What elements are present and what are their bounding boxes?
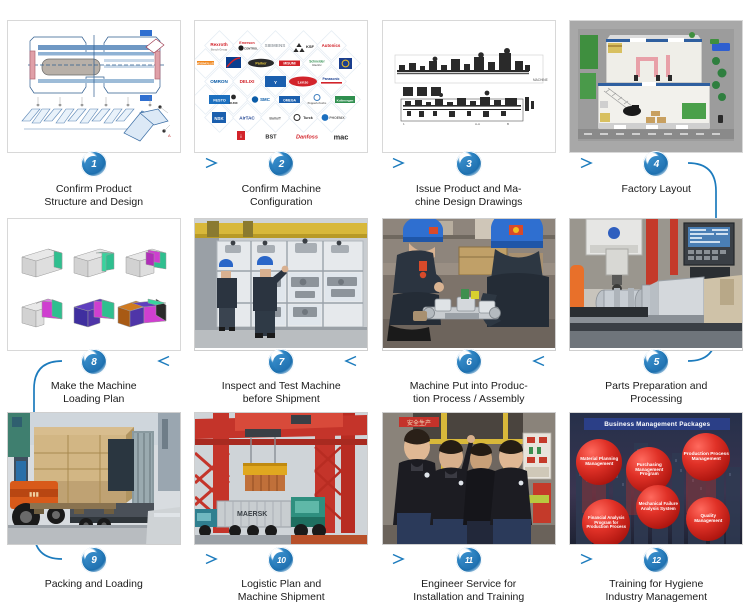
step-4-label-cell: Factory Layout [563, 183, 750, 219]
step-badge-6[interactable]: 6 [456, 349, 482, 375]
bmp-sphere-production-process[interactable]: Production Process Management [682, 433, 730, 481]
step-2-image-cell: Rexroth Bosch Group Emerson CONTROL SIEM… [188, 20, 376, 155]
machine-inspection-photo[interactable] [194, 218, 368, 351]
svg-text:A: A [168, 133, 171, 138]
bmp-title: Business Management Packages [584, 418, 730, 430]
step-9-badge-cell: 9 [0, 545, 188, 575]
step-9-label-cell: Packing and Loading [0, 578, 188, 614]
svg-text:Emerson: Emerson [240, 41, 255, 45]
step-1-image-cell: A [0, 20, 188, 155]
row-1-images: A [0, 20, 750, 155]
step-badge-8[interactable]: 8 [81, 349, 107, 375]
business-management-packages-graphic[interactable]: Business Management Packages Material Pl… [569, 412, 743, 545]
step-10-label-cell: Logistic Plan and Machine Shipment [188, 578, 376, 614]
svg-text:AirTAC: AirTAC [240, 116, 256, 121]
svg-text:PHOENIX: PHOENIX [330, 116, 346, 120]
step-label-12: Training for Hygiene Industry Management [576, 578, 736, 603]
svg-text:FESTO: FESTO [213, 99, 226, 103]
svg-text:Rexroth: Rexroth [211, 42, 229, 47]
cnc-machining-photo[interactable] [569, 218, 743, 351]
svg-text:B: B [507, 122, 509, 126]
step-8-badge-cell: 8 [0, 347, 188, 377]
step-number-11: 11 [460, 552, 477, 569]
step-label-6: Machine Put into Produc- tion Process / … [389, 380, 549, 405]
row-2-labels: Make the Machine Loading Plan Inspect an… [0, 380, 750, 416]
step-label-1: Confirm Product Structure and Design [14, 183, 174, 208]
forklift-container-loading-photo[interactable]: ▮▮▮ [7, 412, 181, 545]
step-3-badge-cell: 3 [375, 149, 563, 179]
svg-text:Kollmorgen: Kollmorgen [337, 98, 354, 102]
step-label-10: Logistic Plan and Machine Shipment [201, 578, 361, 603]
svg-text:mac: mac [334, 133, 349, 142]
step-badge-12[interactable]: 12 [643, 547, 669, 573]
svg-text:Panasonic: Panasonic [323, 77, 340, 81]
step-label-12-line2: Industry Management [576, 591, 736, 604]
svg-text:WEIDMÜLLER: WEIDMÜLLER [196, 60, 217, 65]
svg-text:DELIXI: DELIXI [240, 79, 255, 84]
svg-text:Parker: Parker [256, 62, 268, 66]
step-badge-7[interactable]: 7 [268, 349, 294, 375]
step-label-5-line2: Processing [576, 393, 736, 406]
bmp-sphere-label: Quality Management [686, 514, 730, 524]
step-12-image-cell: Business Management Packages Material Pl… [563, 412, 750, 547]
step-10-image-cell: MAERSK [188, 412, 376, 547]
step-11-badge-cell: 11 [375, 545, 563, 575]
bmp-sphere-label: Financial Analysis Program for Productio… [582, 516, 630, 529]
step-label-11: Engineer Service for Installation and Tr… [389, 578, 549, 603]
row-2-images [0, 218, 750, 353]
step-12-badge-cell: 12 [563, 545, 750, 575]
svg-text:安全生产: 安全生产 [407, 419, 431, 427]
cad-product-structure-drawing[interactable]: A [7, 20, 181, 153]
step-badge-5[interactable]: 5 [643, 349, 669, 375]
step-6-image-cell [375, 218, 563, 353]
step-label-2-line1: Confirm Machine [201, 183, 361, 196]
step-6-badge-cell: 6 [375, 347, 563, 377]
step-label-3-line2: chine Design Drawings [389, 196, 549, 209]
step-label-10-line2: Machine Shipment [201, 591, 361, 604]
svg-text:OMRON: OMRON [210, 79, 228, 84]
step-11-label-cell: Engineer Service for Installation and Tr… [375, 578, 563, 614]
step-8-label-cell: Make the Machine Loading Plan [0, 380, 188, 416]
bmp-sphere-label: Mechanical Failure Analysis System [636, 502, 680, 511]
step-12-label-cell: Training for Hygiene Industry Management [563, 578, 750, 614]
svg-text:Bosch Group: Bosch Group [211, 48, 228, 52]
step-number-9: 9 [85, 552, 102, 569]
svg-text:▮▮▮: ▮▮▮ [29, 492, 39, 498]
bmp-sphere-label: Production Process Management [682, 452, 730, 462]
svg-text:NSK: NSK [215, 116, 225, 121]
step-label-4: Factory Layout [576, 183, 736, 196]
svg-text:i: i [241, 134, 242, 139]
svg-text:MISUMI: MISUMI [284, 62, 296, 66]
svg-text:SUNX: SUNX [230, 101, 238, 105]
step-label-2: Confirm Machine Configuration [201, 183, 361, 208]
port-crane-container-photo[interactable]: MAERSK [194, 412, 368, 545]
step-9-image-cell: ▮▮▮ [0, 412, 188, 547]
svg-text:Turck: Turck [303, 116, 313, 120]
step-label-11-line2: Installation and Training [389, 591, 549, 604]
bmp-sphere-financial-analysis[interactable]: Financial Analysis Program for Productio… [582, 499, 630, 544]
step-label-9-line1: Packing and Loading [14, 578, 174, 591]
step-badge-10[interactable]: 10 [268, 547, 294, 573]
step-label-7: Inspect and Test Machine before Shipment [201, 380, 361, 405]
bmp-sphere-label: Material Planning Management [576, 457, 622, 467]
step-number-8: 8 [85, 354, 102, 371]
step-label-3-line1: Issue Product and Ma- [389, 183, 549, 196]
svg-text:SIEMENS: SIEMENS [265, 43, 286, 48]
assembly-workers-photo[interactable] [382, 218, 556, 351]
factory-layout-3d-render[interactable] [569, 20, 743, 153]
step-number-1: 1 [85, 156, 102, 173]
step-4-badge-cell: 4 [563, 149, 750, 179]
step-badge-3[interactable]: 3 [456, 151, 482, 177]
row-1-labels: Confirm Product Structure and Design Con… [0, 183, 750, 219]
step-1-badge-cell: 1 [0, 149, 188, 179]
step-11-image-cell: 安全生产 [375, 412, 563, 547]
step-label-11-line1: Engineer Service for [389, 578, 549, 591]
step-label-6-line2: tion Process / Assembly [389, 393, 549, 406]
step-number-7: 7 [273, 354, 290, 371]
svg-text:KSF: KSF [306, 44, 315, 49]
row-3-labels: Packing and Loading Logistic Plan and Ma… [0, 578, 750, 614]
step-label-5-line1: Parts Preparation and [576, 380, 736, 393]
step-5-badge-cell: 5 [563, 347, 750, 377]
engineer-team-photo[interactable]: 安全生产 [382, 412, 556, 545]
step-number-10: 10 [273, 552, 290, 569]
step-badge-9[interactable]: 9 [81, 547, 107, 573]
step-label-1-line1: Confirm Product [14, 183, 174, 196]
bmp-sphere-quality-management[interactable]: Quality Management [686, 497, 730, 541]
step-label-2-line2: Configuration [201, 196, 361, 209]
svg-text:OMEGA: OMEGA [283, 98, 296, 102]
step-number-3: 3 [460, 156, 477, 173]
svg-text:SMC: SMC [260, 97, 271, 102]
step-3-image-cell: MACHINE [375, 20, 563, 155]
step-badge-4[interactable]: 4 [643, 151, 669, 177]
step-number-4: 4 [648, 156, 665, 173]
step-1-label-cell: Confirm Product Structure and Design [0, 183, 188, 219]
svg-text:Autonics: Autonics [322, 43, 341, 48]
step-label-7-line2: before Shipment [201, 393, 361, 406]
svg-text:A-A: A-A [475, 122, 480, 126]
row-2-badges: 8 7 6 5 [0, 347, 750, 377]
bmp-sphere-material-planning[interactable]: Material Planning Management [576, 439, 622, 485]
machine-design-drawing[interactable]: MACHINE [382, 20, 556, 153]
svg-text:Y: Y [274, 80, 277, 85]
step-badge-1[interactable]: 1 [81, 151, 107, 177]
svg-text:CONTROL: CONTROL [244, 47, 258, 51]
svg-text:BST: BST [266, 135, 278, 141]
step-label-3: Issue Product and Ma- chine Design Drawi… [389, 183, 549, 208]
process-flow-diagram: A [0, 0, 750, 615]
bmp-sphere-label: Purchasing Management Program [626, 463, 672, 477]
step-6-label-cell: Machine Put into Produc- tion Process / … [375, 380, 563, 416]
step-label-9: Packing and Loading [14, 578, 174, 591]
step-number-2: 2 [273, 156, 290, 173]
step-label-6-line1: Machine Put into Produc- [389, 380, 549, 393]
row-3-badges: 9 10 11 12 [0, 545, 750, 575]
step-2-badge-cell: 2 [188, 149, 376, 179]
step-label-8: Make the Machine Loading Plan [14, 380, 174, 405]
step-10-badge-cell: 10 [188, 545, 376, 575]
row-1-badges: 1 2 3 4 [0, 149, 750, 179]
step-number-12: 12 [648, 552, 665, 569]
svg-text:Danfoss: Danfoss [296, 135, 318, 141]
step-label-10-line1: Logistic Plan and [201, 578, 361, 591]
container-loading-plan-diagram[interactable] [7, 218, 181, 351]
svg-text:Electric: Electric [313, 63, 323, 67]
step-3-label-cell: Issue Product and Ma- chine Design Drawi… [375, 183, 563, 219]
step-label-7-line1: Inspect and Test Machine [201, 380, 361, 393]
step-label-1-line2: Structure and Design [14, 196, 174, 209]
step-badge-11[interactable]: 11 [456, 547, 482, 573]
svg-text:Pepperl+Fuchs: Pepperl+Fuchs [308, 101, 327, 105]
step-2-label-cell: Confirm Machine Configuration [188, 183, 376, 219]
svg-text:Balluff: Balluff [270, 117, 282, 121]
component-brand-logo-grid[interactable]: Rexroth Bosch Group Emerson CONTROL SIEM… [194, 20, 368, 153]
step-5-image-cell [563, 218, 750, 353]
step-label-12-line1: Training for Hygiene [576, 578, 736, 591]
bmp-sphere-failure-analysis[interactable]: Mechanical Failure Analysis System [636, 485, 680, 529]
step-label-4-line1: Factory Layout [576, 183, 736, 196]
svg-text:MAERSK: MAERSK [237, 511, 267, 518]
step-number-5: 5 [648, 354, 665, 371]
step-4-image-cell [563, 20, 750, 155]
step-label-5: Parts Preparation and Processing [576, 380, 736, 405]
step-7-label-cell: Inspect and Test Machine before Shipment [188, 380, 376, 416]
svg-text:Schneider: Schneider [310, 60, 326, 64]
step-label-8-line1: Make the Machine [14, 380, 174, 393]
step-badge-2[interactable]: 2 [268, 151, 294, 177]
step-8-image-cell [0, 218, 188, 353]
svg-text:Lenze: Lenze [298, 80, 309, 84]
svg-text:MACHINE: MACHINE [533, 78, 548, 82]
step-5-label-cell: Parts Preparation and Processing [563, 380, 750, 416]
step-number-6: 6 [460, 354, 477, 371]
step-label-8-line2: Loading Plan [14, 393, 174, 406]
step-7-image-cell [188, 218, 376, 353]
row-3-images: ▮▮▮ [0, 412, 750, 547]
step-7-badge-cell: 7 [188, 347, 376, 377]
